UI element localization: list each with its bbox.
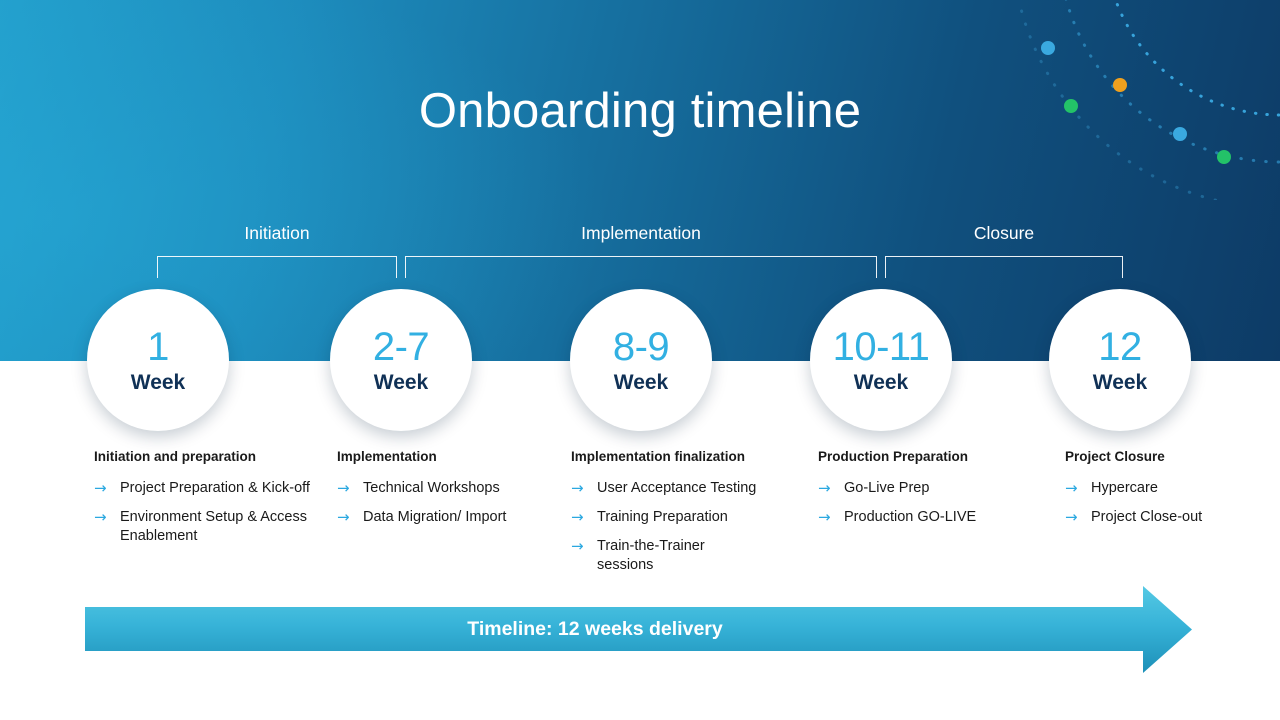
week-unit-label: Week (131, 370, 185, 396)
timeline-banner-label: Timeline: 12 weeks delivery (0, 616, 1190, 642)
week-circle-8-9[interactable]: 8-9 Week (570, 289, 712, 431)
week-unit-label: Week (1093, 370, 1147, 396)
green-dot-2 (1217, 150, 1231, 164)
list-item[interactable]: → Environment Setup & Access Enablement (94, 508, 324, 546)
list-item-label: Training Preparation (597, 508, 728, 527)
week-circle-2-7[interactable]: 2-7 Week (330, 289, 472, 431)
phase-column-initiation-and-preparation: Initiation and preparation → Project Pre… (94, 448, 324, 556)
week-unit-label: Week (374, 370, 428, 396)
week-number: 1 (147, 325, 169, 369)
arrow-right-icon: → (571, 479, 597, 498)
list-item-label: Technical Workshops (363, 479, 500, 498)
list-item[interactable]: → Project Preparation & Kick-off (94, 479, 324, 498)
week-number: 12 (1098, 325, 1142, 369)
list-item-label: Production GO-LIVE (844, 508, 976, 527)
list-item[interactable]: → Data Migration/ Import (337, 508, 562, 527)
arrow-right-icon: → (94, 508, 120, 527)
list-item[interactable]: → User Acceptance Testing (571, 479, 806, 498)
list-item[interactable]: → Production GO-LIVE (818, 508, 1043, 527)
arrow-right-icon: → (571, 508, 597, 527)
page-title: Onboarding timeline (0, 82, 1280, 140)
phase-bracket-implementation (405, 256, 877, 278)
list-item[interactable]: → Go-Live Prep (818, 479, 1043, 498)
column-heading: Project Closure (1065, 448, 1265, 466)
phase-bracket-closure (885, 256, 1123, 278)
slide-canvas: Onboarding timeline Initiation Implement… (0, 0, 1280, 720)
column-heading: Initiation and preparation (94, 448, 324, 466)
list-item[interactable]: → Training Preparation (571, 508, 806, 527)
list-item-label: Hypercare (1091, 479, 1158, 498)
phase-column-project-closure: Project Closure → Hypercare → Project Cl… (1065, 448, 1265, 537)
list-item[interactable]: → Train-the-Trainer sessions (571, 537, 806, 575)
week-number: 10-11 (833, 325, 930, 369)
week-circle-1[interactable]: 1 Week (87, 289, 229, 431)
column-heading: Production Preparation (818, 448, 1043, 466)
phase-label-closure: Closure (885, 222, 1123, 244)
list-item-label: Data Migration/ Import (363, 508, 506, 527)
arrow-right-icon: → (571, 537, 597, 556)
arrow-right-icon: → (94, 479, 120, 498)
arrow-right-icon: → (818, 479, 844, 498)
list-item-label: Project Close-out (1091, 508, 1202, 527)
list-item-label: User Acceptance Testing (597, 479, 756, 498)
column-heading: Implementation (337, 448, 562, 466)
week-number: 2-7 (373, 325, 429, 369)
arrow-right-icon: → (1065, 479, 1091, 498)
list-item[interactable]: → Project Close-out (1065, 508, 1265, 527)
column-heading: Implementation finalization (571, 448, 806, 466)
week-circle-10-11[interactable]: 10-11 Week (810, 289, 952, 431)
phase-label-initiation: Initiation (157, 222, 397, 244)
phase-label-implementation: Implementation (405, 222, 877, 244)
arrow-right-icon: → (337, 508, 363, 527)
week-number: 8-9 (613, 325, 669, 369)
phase-bracket-initiation (157, 256, 397, 278)
week-unit-label: Week (614, 370, 668, 396)
list-item-label: Environment Setup & Access Enablement (120, 508, 324, 546)
list-item-label: Project Preparation & Kick-off (120, 479, 310, 498)
list-item-label: Go-Live Prep (844, 479, 929, 498)
arrow-right-icon: → (337, 479, 363, 498)
week-circle-12[interactable]: 12 Week (1049, 289, 1191, 431)
arrow-right-icon: → (1065, 508, 1091, 527)
arrow-right-icon: → (818, 508, 844, 527)
list-item[interactable]: → Technical Workshops (337, 479, 562, 498)
phase-column-production-preparation: Production Preparation → Go-Live Prep → … (818, 448, 1043, 537)
list-item-label: Train-the-Trainer sessions (597, 537, 717, 575)
phase-column-implementation-finalization: Implementation finalization → User Accep… (571, 448, 806, 585)
week-unit-label: Week (854, 370, 908, 396)
blue-dot-1 (1041, 41, 1055, 55)
phase-column-implementation: Implementation → Technical Workshops → D… (337, 448, 562, 537)
list-item[interactable]: → Hypercare (1065, 479, 1265, 498)
